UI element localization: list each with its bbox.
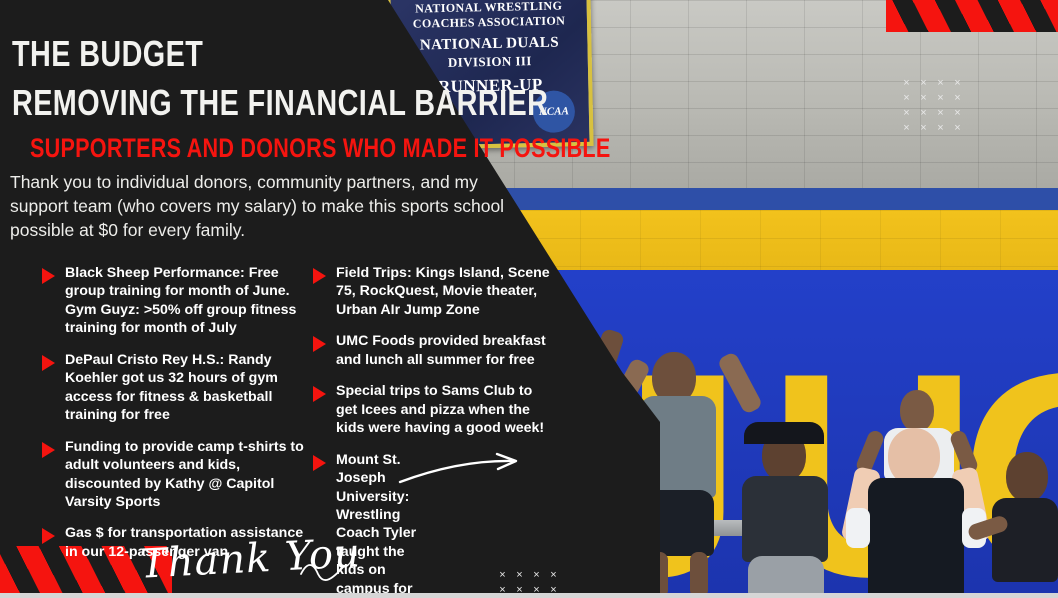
triangle-bullet-icon bbox=[313, 268, 326, 284]
page-title: REMOVING THE FINANCIAL BARRIER bbox=[12, 82, 548, 124]
intro-paragraph: Thank you to individual donors, communit… bbox=[10, 170, 522, 242]
x-mark: × bbox=[932, 93, 949, 108]
list-item-label: Special trips to Sams Club to get Icees … bbox=[336, 382, 551, 437]
banner-line-2: COACHES ASSOCIATION bbox=[391, 13, 587, 32]
triangle-bullet-icon bbox=[42, 442, 55, 458]
list-item-label: Funding to provide camp t-shirts to adul… bbox=[65, 438, 317, 512]
x-mark: × bbox=[915, 78, 932, 93]
list-item: Field Trips: Kings Island, Scene 75, Roc… bbox=[313, 264, 551, 319]
list-item-label: Black Sheep Performance: Free group trai… bbox=[65, 264, 317, 338]
x-mark: × bbox=[898, 123, 915, 138]
list-item: Funding to provide camp t-shirts to adul… bbox=[42, 438, 317, 512]
x-mark: × bbox=[949, 123, 966, 138]
bottom-bar bbox=[0, 593, 1058, 598]
list-item: Black Sheep Performance: Free group trai… bbox=[42, 264, 317, 338]
triangle-bullet-icon bbox=[42, 355, 55, 371]
x-mark: × bbox=[898, 78, 915, 93]
x-mark: × bbox=[932, 108, 949, 123]
x-mark: × bbox=[932, 78, 949, 93]
triangle-bullet-icon bbox=[42, 528, 55, 544]
red-stripes-top-right bbox=[886, 0, 1058, 32]
list-item: DePaul Cristo Rey H.S.: Randy Koehler go… bbox=[42, 351, 317, 425]
list-item: Special trips to Sams Club to get Icees … bbox=[313, 382, 551, 437]
list-item: UMC Foods provided breakfast and lunch a… bbox=[313, 332, 551, 369]
x-mark: × bbox=[949, 78, 966, 93]
list-item-label: DePaul Cristo Rey H.S.: Randy Koehler go… bbox=[65, 351, 317, 425]
triangle-bullet-icon bbox=[313, 336, 326, 352]
x-mark: × bbox=[898, 108, 915, 123]
x-mark: × bbox=[915, 108, 932, 123]
triangle-bullet-icon bbox=[42, 268, 55, 284]
x-mark: × bbox=[949, 93, 966, 108]
x-mark: × bbox=[898, 93, 915, 108]
list-item-label: UMC Foods provided breakfast and lunch a… bbox=[336, 332, 551, 369]
hand-drawn-arrow-icon bbox=[398, 452, 528, 488]
slide: J U G NATIONAL WRESTLING COACHES ASSOCIA… bbox=[0, 0, 1058, 598]
donor-list-left: Black Sheep Performance: Free group trai… bbox=[42, 264, 317, 574]
heading-subtitle: SUPPORTERS AND DONORS WHO MADE IT POSSIB… bbox=[30, 133, 611, 164]
triangle-bullet-icon bbox=[313, 386, 326, 402]
x-mark: × bbox=[932, 123, 949, 138]
triangle-bullet-icon bbox=[313, 455, 326, 471]
heading-kicker: THE BUDGET bbox=[12, 33, 203, 75]
x-mark: × bbox=[915, 93, 932, 108]
x-grid-top-right: × × × × × × × × × × × × × × × × bbox=[898, 78, 966, 138]
x-mark: × bbox=[949, 108, 966, 123]
x-mark: × bbox=[915, 123, 932, 138]
list-item-label: Field Trips: Kings Island, Scene 75, Roc… bbox=[336, 264, 551, 319]
